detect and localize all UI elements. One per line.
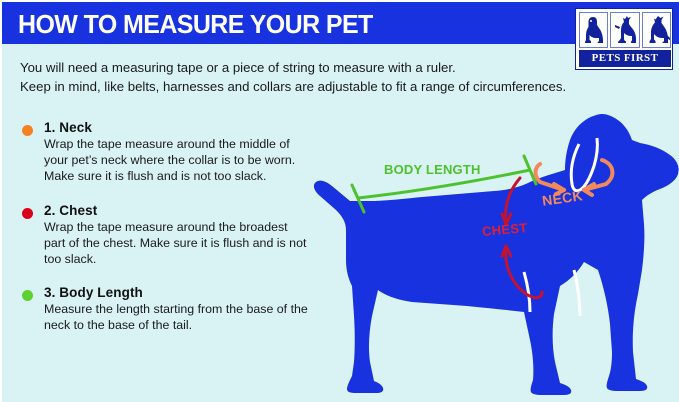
- measurement-steps-list: 1. Neck Wrap the tape measure around the…: [20, 120, 310, 352]
- step-body-line: neck to the base of the tail.: [44, 317, 310, 333]
- dog-silhouette-icon: [314, 114, 679, 395]
- sitting-dog-silhouette-icon: [579, 12, 608, 48]
- logo-icon-row: [579, 12, 671, 48]
- step-bullet-neck: [22, 125, 33, 136]
- label-body-length: BODY LENGTH: [384, 162, 481, 177]
- standing-dog-silhouette-icon: [642, 12, 671, 48]
- step-title-chest: 2. Chest: [44, 203, 310, 219]
- step-body-line: Measure the length starting from the bas…: [44, 301, 310, 317]
- logo-wordmark: PETS FIRST: [579, 50, 671, 67]
- infographic-page: HOW TO MEASURE YOUR PET: [0, 0, 679, 402]
- step-body-line: Wrap the tape measure around the middle …: [44, 136, 310, 152]
- intro-line-1: You will need a measuring tape or a piec…: [20, 58, 565, 77]
- step-title-body-length: 3. Body Length: [44, 285, 310, 301]
- step-body-length: 3. Body Length Measure the length starti…: [20, 285, 310, 333]
- intro-text: You will need a measuring tape or a piec…: [20, 58, 565, 96]
- step-body-line: your pet’s neck where the collar is to b…: [44, 152, 310, 168]
- step-bullet-body-length: [22, 290, 33, 301]
- step-bullet-chest: [22, 208, 33, 219]
- dog-measurement-diagram: BODY LENGTH NECK CHEST: [302, 100, 679, 402]
- step-body-line: Wrap the tape measure around the broades…: [44, 219, 310, 235]
- step-body-line: part of the chest. Make sure it is flush…: [44, 235, 310, 251]
- page-title: HOW TO MEASURE YOUR PET: [18, 9, 373, 40]
- step-body-neck: Wrap the tape measure around the middle …: [44, 136, 310, 185]
- step-neck: 1. Neck Wrap the tape measure around the…: [20, 120, 310, 185]
- intro-line-2: Keep in mind, like belts, harnesses and …: [20, 77, 565, 96]
- begging-dog-silhouette-icon: [610, 12, 639, 48]
- step-title-neck: 1. Neck: [44, 120, 310, 136]
- brand-logo: PETS FIRST: [575, 8, 673, 70]
- step-chest: 2. Chest Wrap the tape measure around th…: [20, 203, 310, 268]
- step-body-line: Make sure it is flush and is not too sla…: [44, 168, 310, 184]
- dog-diagram-svg: [302, 100, 679, 402]
- step-body-body-length: Measure the length starting from the bas…: [44, 301, 310, 333]
- step-body-chest: Wrap the tape measure around the broades…: [44, 219, 310, 268]
- step-body-line: too slack.: [44, 251, 310, 267]
